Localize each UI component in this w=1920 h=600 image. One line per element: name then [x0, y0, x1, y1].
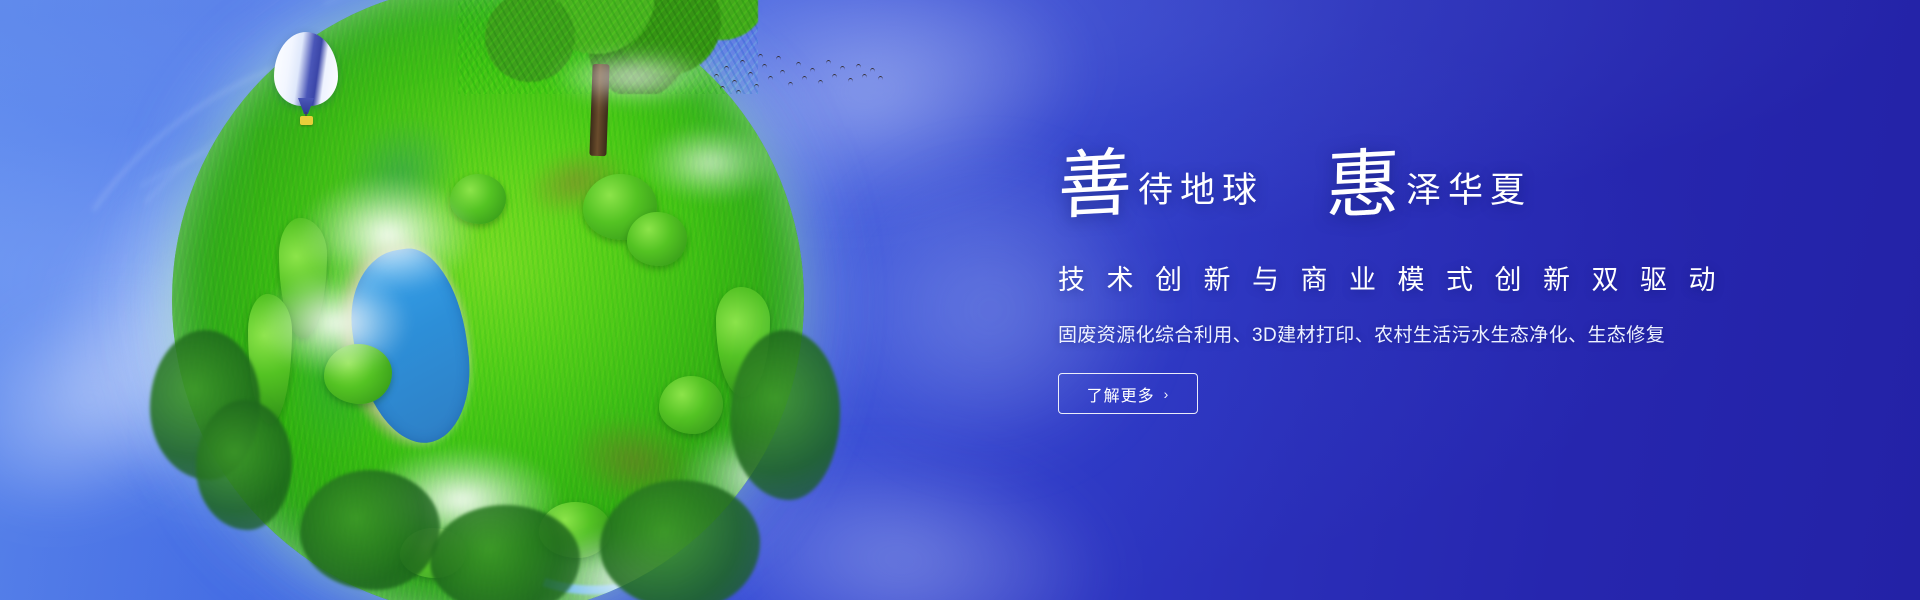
edge-tree	[730, 330, 840, 500]
hero-copy: 善 待地球 惠 泽华夏 技 术 创 新 与 商 业 模 式 创 新 双 驱 动 …	[1058, 142, 1758, 414]
balloon-basket	[300, 116, 313, 125]
chevron-right-icon: ›	[1164, 387, 1170, 401]
edge-tree	[600, 480, 760, 600]
headline-lead-char-1: 善	[1057, 146, 1132, 224]
edge-tree	[196, 400, 292, 530]
headline-phrase-1: 善 待地球	[1058, 142, 1264, 216]
balloon-envelope	[274, 32, 338, 106]
bird-flock	[710, 46, 890, 106]
headline-rest-chars-2: 泽华夏	[1406, 174, 1532, 209]
headline-rest-chars-1: 待地球	[1138, 174, 1264, 209]
description: 固废资源化综合利用、3D建材打印、农村生活污水生态净化、生态修复	[1058, 320, 1758, 347]
headline: 善 待地球 惠 泽华夏	[1058, 142, 1758, 234]
hero-banner: 善 待地球 惠 泽华夏 技 术 创 新 与 商 业 模 式 创 新 双 驱 动 …	[0, 0, 1920, 600]
learn-more-label: 了解更多	[1087, 382, 1155, 406]
headline-phrase-2: 惠 泽华夏	[1326, 142, 1532, 216]
edge-tree	[300, 470, 440, 590]
subtitle: 技 术 创 新 与 商 业 模 式 创 新 双 驱 动	[1058, 258, 1758, 297]
hot-air-balloon	[274, 32, 344, 132]
headline-lead-char-2: 惠	[1325, 146, 1400, 224]
learn-more-button[interactable]: 了解更多 ›	[1058, 373, 1198, 414]
